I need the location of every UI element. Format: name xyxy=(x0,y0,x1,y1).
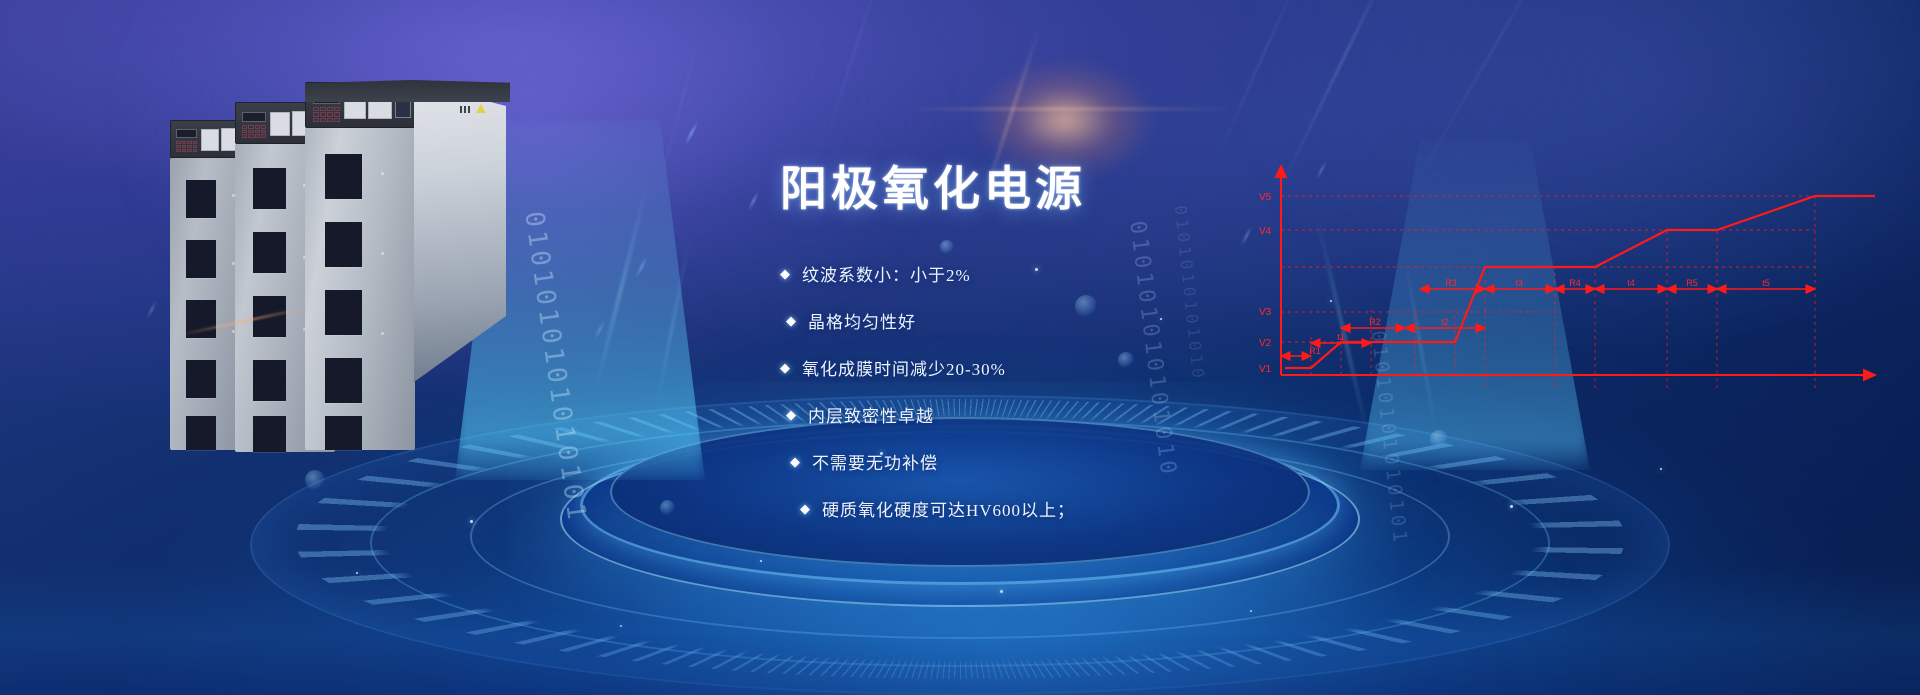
page-title: 阳极氧化电源 xyxy=(780,150,1340,219)
chart-segment-label: R2 xyxy=(1369,317,1381,327)
cabinet-front-screw xyxy=(381,252,384,255)
list-item: ◆ 硬质氧化硬度可达HV600以上； xyxy=(800,496,1340,521)
particle-dot xyxy=(1035,268,1038,271)
particle-dot xyxy=(1510,505,1513,508)
list-item: ◆ 不需要无功补偿 xyxy=(790,449,1340,474)
voltage-ramp-chart: V1 V2 V3 V4 V5 R1 t1 R2 t2 R3 t3 R4 t4 R… xyxy=(1255,160,1895,400)
chart-segment-label: t2 xyxy=(1441,317,1449,327)
anodizing-power-supply-banner: 0101010101010101 010101010101010 0101010… xyxy=(0,0,1920,695)
diamond-bullet-icon: ◆ xyxy=(790,455,801,468)
light-ray-2 xyxy=(1211,0,1302,171)
diamond-bullet-icon: ◆ xyxy=(786,408,797,421)
chart-segment-label: R5 xyxy=(1686,278,1698,288)
cabinet-front-vent xyxy=(325,358,362,403)
particle-dot xyxy=(1660,468,1662,470)
chart-segment-label: t4 xyxy=(1627,278,1635,288)
list-item-label: 晶格均匀性好 xyxy=(808,308,916,333)
cabinet-middle-display xyxy=(242,112,266,122)
chart-segment-label: t5 xyxy=(1762,278,1770,288)
list-item-label: 纹波系数小：小于2% xyxy=(802,261,971,286)
cabinet-front-vent xyxy=(325,290,362,335)
cabinet-warning-icon xyxy=(476,104,486,113)
cabinet-front-vent xyxy=(325,416,362,450)
cabinet-rear-vent xyxy=(186,240,216,278)
bokeh-dot xyxy=(1118,352,1134,368)
cabinet-front xyxy=(305,82,415,450)
particle-dot xyxy=(880,452,883,455)
diamond-bullet-icon: ◆ xyxy=(800,502,811,515)
bokeh-dot xyxy=(660,500,675,515)
cabinet-rear-keypad xyxy=(176,141,197,152)
list-item-label: 氧化成膜时间减少20-30% xyxy=(802,355,1006,380)
list-item: ◆ 晶格均匀性好 xyxy=(786,308,1340,333)
cabinet-front-body xyxy=(305,128,415,450)
list-item: ◆ 氧化成膜时间减少20-30% xyxy=(780,355,1340,380)
diamond-bullet-icon: ◆ xyxy=(780,361,791,374)
cabinet-front-screw xyxy=(381,332,384,335)
cabinet-middle-label-left xyxy=(270,112,290,136)
chart-gridlines-y xyxy=(1281,196,1815,342)
cabinet-middle-vent xyxy=(253,416,286,452)
diamond-bullet-icon: ◆ xyxy=(780,267,791,280)
list-item: ◆ 纹波系数小：小于2% xyxy=(780,261,1340,286)
particle-dot xyxy=(1330,300,1332,302)
list-item-label: 不需要无功补偿 xyxy=(812,449,938,474)
light-streak xyxy=(684,121,699,145)
cabinet-front-keypad xyxy=(313,107,340,122)
particle-dot xyxy=(1160,318,1162,320)
cabinet-rear-label-left xyxy=(201,129,219,151)
cabinet-front-vent xyxy=(325,154,362,199)
bokeh-dot xyxy=(1075,295,1097,317)
banner-content: 阳极氧化电源 ◆ 纹波系数小：小于2% ◆ 晶格均匀性好 ◆ 氧化成膜时间减少2… xyxy=(780,150,1340,543)
floor-reflection xyxy=(0,565,1920,695)
feature-list: ◆ 纹波系数小：小于2% ◆ 晶格均匀性好 ◆ 氧化成膜时间减少20-30% ◆… xyxy=(780,261,1340,521)
cabinet-side-vents-icon xyxy=(460,106,470,113)
light-streak xyxy=(747,191,760,212)
list-item: ◆ 内层致密性卓越 xyxy=(786,402,1340,427)
diamond-bullet-icon: ◆ xyxy=(786,314,797,327)
cabinet-front-side-panel xyxy=(414,82,506,382)
chart-segment-label: t3 xyxy=(1515,278,1523,288)
cabinet-front-top-panel xyxy=(305,80,510,102)
list-item-label: 硬质氧化硬度可达HV600以上； xyxy=(822,496,1075,521)
voltage-ramp-svg: V1 V2 V3 V4 V5 R1 t1 R2 t2 R3 t3 R4 t4 R… xyxy=(1255,160,1895,400)
particle-dot xyxy=(470,520,473,523)
cabinet-front-screw xyxy=(381,172,384,175)
chart-segment-label: R3 xyxy=(1445,278,1457,288)
cabinet-middle-keypad xyxy=(242,125,266,138)
cabinet-front-vent xyxy=(325,222,362,267)
anodizing-power-cabinets xyxy=(150,80,610,480)
list-item-label: 内层致密性卓越 xyxy=(808,402,934,427)
cabinet-rear-vent xyxy=(186,360,216,398)
cabinet-middle-vent xyxy=(253,168,286,209)
chart-segment-label: R4 xyxy=(1569,278,1581,288)
lens-flare-streak xyxy=(905,108,1235,110)
bokeh-dot xyxy=(1430,430,1448,448)
bokeh-dot xyxy=(940,240,954,254)
cabinet-middle-vent xyxy=(253,232,286,273)
cabinet-rear-vent xyxy=(186,416,216,450)
cabinet-middle-vent xyxy=(253,360,286,401)
particle-dot xyxy=(760,560,762,562)
cabinet-rear-display xyxy=(176,129,197,138)
cabinet-rear-vent xyxy=(186,180,216,218)
light-ray-4 xyxy=(818,0,882,161)
bokeh-dot xyxy=(305,470,325,490)
